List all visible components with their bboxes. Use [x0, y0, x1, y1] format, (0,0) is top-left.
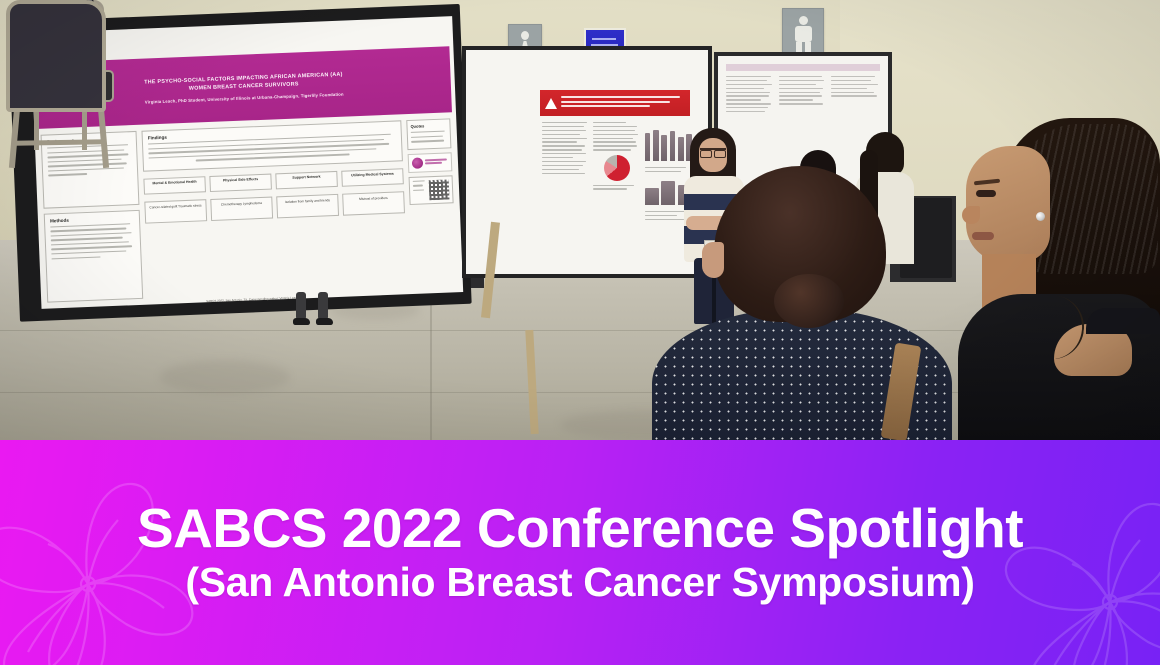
walking-attendee	[294, 292, 340, 328]
table-data-cell: Mistrust of providers	[342, 191, 405, 215]
banner-title: SABCS 2022 Conference Spotlight	[137, 500, 1023, 558]
womens-restroom-icon	[521, 31, 529, 40]
poster-column-results	[593, 122, 640, 268]
poster-right-column: Quotes	[406, 118, 457, 288]
poster-header-banner-red	[540, 90, 690, 116]
section-text-lines	[50, 223, 135, 260]
cold-shoulder-cutout	[1086, 308, 1160, 334]
conference-photo: THE PSYCHO-SOCIAL FACTORS IMPACTING AFRI…	[0, 0, 1160, 440]
poster-section-methods: Methods	[44, 209, 144, 302]
poster-middle-column: Findings Mental & Emotional Health	[141, 120, 408, 298]
pie-chart	[604, 155, 630, 181]
eye	[976, 190, 996, 197]
poster-section-findings: Findings	[141, 120, 402, 171]
section-text-lines	[47, 144, 132, 176]
poster-column-text	[542, 122, 589, 268]
floor-blotch	[160, 360, 290, 394]
earring	[1036, 212, 1045, 221]
nose	[962, 206, 980, 224]
chair-back	[6, 0, 106, 112]
poster-left-column: Background	[41, 131, 144, 303]
banner-text-block: SABCS 2022 Conference Spotlight (San Ant…	[0, 440, 1160, 665]
poster-findings-table-headers: Mental & Emotional Health Physical Side …	[143, 168, 403, 194]
section-heading: Methods	[50, 215, 134, 223]
mens-restroom-icon	[799, 16, 808, 25]
table-header-cell: Utilizing Medical Systems	[341, 168, 404, 186]
banner-subtitle: (San Antonio Breast Cancer Symposium)	[185, 560, 974, 605]
poster-findings-table-body: Cancer-related guilt Traumatic stress Ch…	[144, 191, 405, 223]
poster-authors: Virginia Leach, PhD Student, University …	[145, 92, 344, 105]
table-data-cell: Chemotherapy Lymphedema	[210, 196, 273, 220]
triangle-logo-icon	[545, 98, 557, 109]
glasses-icon	[700, 148, 726, 156]
right-attendee	[958, 118, 1160, 440]
poster-section-quotes: Quotes	[406, 118, 451, 149]
poster-contact-block	[409, 175, 454, 205]
leg	[296, 292, 306, 320]
shoe	[293, 318, 310, 325]
section-text-lines	[411, 130, 447, 142]
leg	[318, 292, 328, 320]
contact-text-lines	[413, 180, 427, 201]
table-header-cell: Mental & Emotional Health	[143, 176, 206, 194]
sign-text-line	[592, 38, 616, 40]
table-header-cell: Support Network	[275, 171, 338, 189]
qr-code-icon	[429, 179, 450, 200]
table-header-cell: Physical Side Effects	[209, 173, 272, 191]
poster-header-band	[726, 64, 880, 71]
table-data-cell: Cancer-related guilt Traumatic stress	[144, 199, 207, 223]
face	[966, 146, 1050, 262]
lips	[972, 232, 994, 240]
flower-logo-icon	[412, 157, 423, 168]
table-data-cell: Isolation from family and friends	[276, 194, 339, 218]
conference-spotlight-banner: SABCS 2022 Conference Spotlight (San Ant…	[0, 440, 1160, 665]
ear	[702, 242, 724, 278]
section-heading: Quotes	[410, 122, 446, 128]
logo-wordmark	[425, 159, 447, 166]
mens-restroom-icon	[795, 26, 812, 42]
poster-title-lines	[561, 96, 685, 109]
foreground-attendee	[652, 166, 952, 440]
tigerlily-foundation-logo	[408, 152, 453, 173]
shoe	[316, 318, 333, 325]
hair-bun	[774, 274, 844, 328]
screenshot-root: THE PSYCHO-SOCIAL FACTORS IMPACTING AFRI…	[0, 0, 1160, 665]
